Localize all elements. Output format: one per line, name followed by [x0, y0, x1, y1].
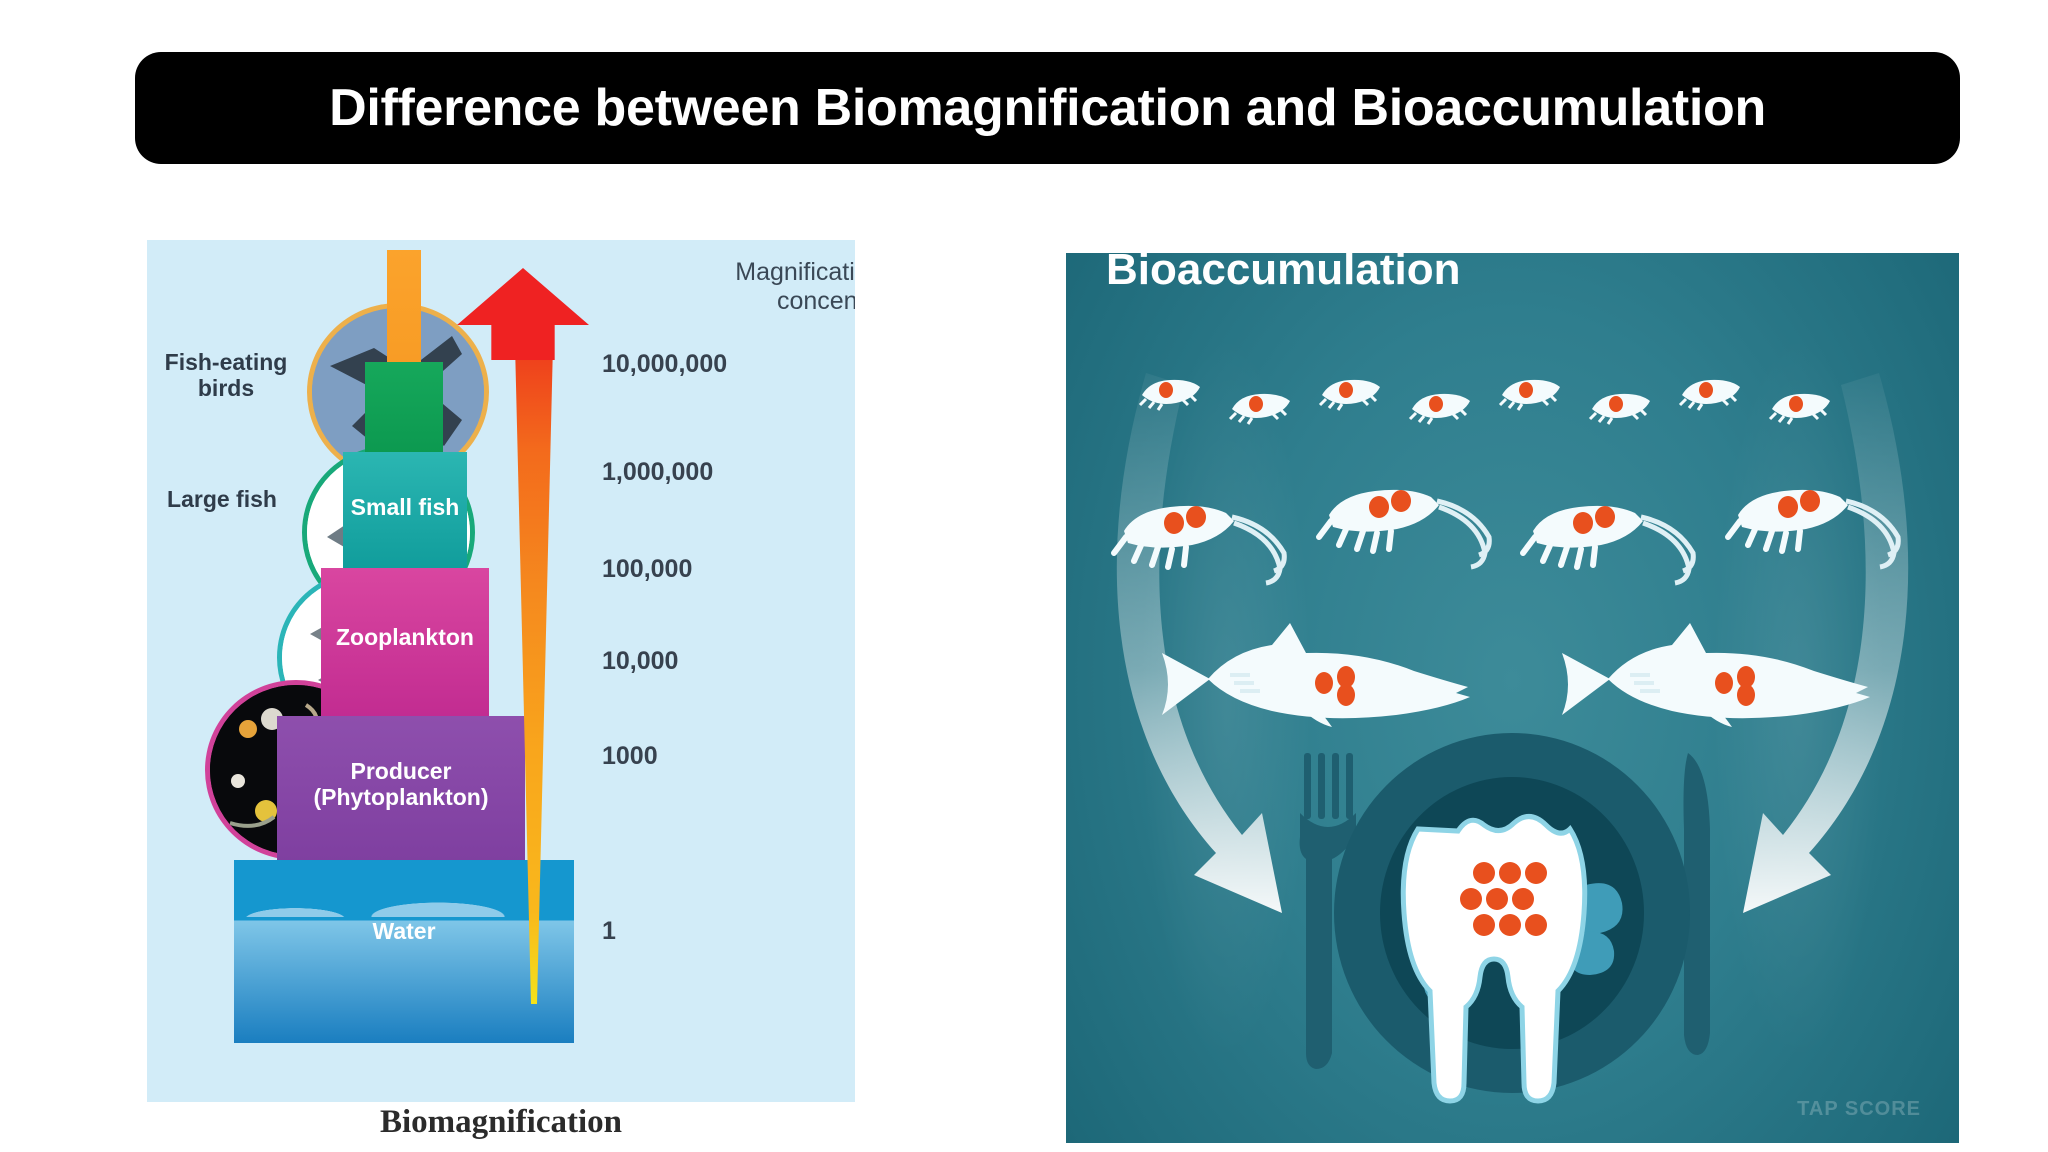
toxin-dot	[1499, 862, 1521, 884]
page-title: Difference between Biomagnification and …	[329, 78, 1766, 138]
bioaccumulation-panel: Bioaccumulation	[1066, 253, 1959, 1143]
tuna-silhouette-icon	[1556, 623, 1876, 733]
toxin-dot	[1391, 490, 1411, 512]
toxin-dot	[1512, 888, 1534, 910]
toxin-dot	[1525, 862, 1547, 884]
toxin-dot	[1486, 888, 1508, 910]
toxin-dot	[1525, 914, 1547, 936]
shrimp-icon	[1722, 475, 1908, 585]
plankton-item	[1316, 371, 1384, 413]
plankton-icon	[1406, 385, 1474, 427]
shrimp-item	[1313, 475, 1499, 585]
tier-label-small-fish: Small fish	[351, 494, 460, 520]
shrimp-item	[1722, 475, 1908, 585]
plankton-row	[1136, 371, 1906, 427]
toxin-dot	[1519, 382, 1533, 398]
toxin-dot	[1778, 496, 1798, 518]
plankton-item	[1136, 371, 1204, 413]
toxin-dot	[1573, 512, 1593, 534]
toxin-dot	[1473, 862, 1495, 884]
tier-label-water: Water	[372, 918, 435, 944]
plankton-item	[1406, 385, 1474, 427]
biomagnification-panel: Magnification of DDT concentration	[147, 240, 855, 1102]
scale-value-10000: 10,000	[602, 647, 678, 676]
toxin-dot	[1429, 396, 1443, 412]
toxin-dot	[1460, 888, 1482, 910]
ddt-chart-title: Magnification of DDT concentration	[707, 258, 855, 317]
scale-value-1000: 1000	[602, 742, 658, 771]
plankton-icon	[1496, 371, 1564, 413]
toxin-dot	[1737, 684, 1755, 706]
shrimp-item	[1108, 491, 1294, 601]
ddt-concentration-wedge	[507, 344, 561, 1004]
bioaccumulation-title: Bioaccumulation	[1106, 253, 1461, 295]
toxin-dot-cluster	[1460, 862, 1547, 936]
shrimp-icon	[1108, 491, 1294, 601]
toxin-dot	[1159, 382, 1173, 398]
plankton-item	[1226, 385, 1294, 427]
plankton-item	[1676, 371, 1744, 413]
shrimp-row	[1108, 475, 1908, 601]
tuna-silhouette-icon	[1156, 623, 1476, 733]
toxin-dot	[1800, 490, 1820, 512]
toxin-dot	[1315, 672, 1333, 694]
plankton-icon	[1136, 371, 1204, 413]
plankton-item	[1586, 385, 1654, 427]
toxin-dot	[1186, 506, 1206, 528]
toxin-dot	[1715, 672, 1733, 694]
plankton-icon	[1586, 385, 1654, 427]
label-large-fish: Large fish	[147, 487, 297, 513]
toxin-dot	[1337, 684, 1355, 706]
toxin-dot	[1339, 382, 1353, 398]
fish-item	[1556, 623, 1876, 733]
scale-value-1000000: 1,000,000	[602, 458, 713, 487]
scale-value-1: 1	[602, 917, 616, 946]
toxin-dot	[1789, 396, 1803, 412]
fish-row	[1156, 623, 1876, 733]
shrimp-icon	[1313, 475, 1499, 585]
scale-value-10000000: 10,000,000	[602, 350, 727, 379]
plankton-icon	[1676, 371, 1744, 413]
toxin-dot	[1499, 914, 1521, 936]
plankton-icon	[1766, 385, 1834, 427]
scale-value-100000: 100,000	[602, 555, 692, 584]
shrimp-item	[1517, 491, 1703, 601]
tier-label-producer: Producer (Phytoplankton)	[277, 758, 525, 811]
toxin-dot	[1249, 396, 1263, 412]
ddt-arrow-head-icon	[457, 268, 589, 360]
biomagnification-caption: Biomagnification	[147, 1104, 855, 1141]
plankton-item	[1766, 385, 1834, 427]
shrimp-icon	[1517, 491, 1703, 601]
toxin-dot	[1609, 396, 1623, 412]
toxin-dot	[1699, 382, 1713, 398]
toxin-dot	[1473, 914, 1495, 936]
tap-score-watermark: TAP SCORE	[1797, 1098, 1921, 1121]
meal-plate-group	[1066, 733, 1959, 1133]
plankton-icon	[1226, 385, 1294, 427]
toxin-dot	[1369, 496, 1389, 518]
page-title-banner: Difference between Biomagnification and …	[135, 52, 1960, 164]
toxin-dot	[1164, 512, 1184, 534]
toxin-dot	[1595, 506, 1615, 528]
screenshot-root: Difference between Biomagnification and …	[0, 0, 2048, 1152]
tier-label-zooplankton: Zooplankton	[336, 624, 474, 650]
plankton-icon	[1316, 371, 1384, 413]
plankton-item	[1496, 371, 1564, 413]
label-fish-eating-birds: Fish-eating birds	[147, 350, 305, 402]
fish-item	[1156, 623, 1476, 733]
